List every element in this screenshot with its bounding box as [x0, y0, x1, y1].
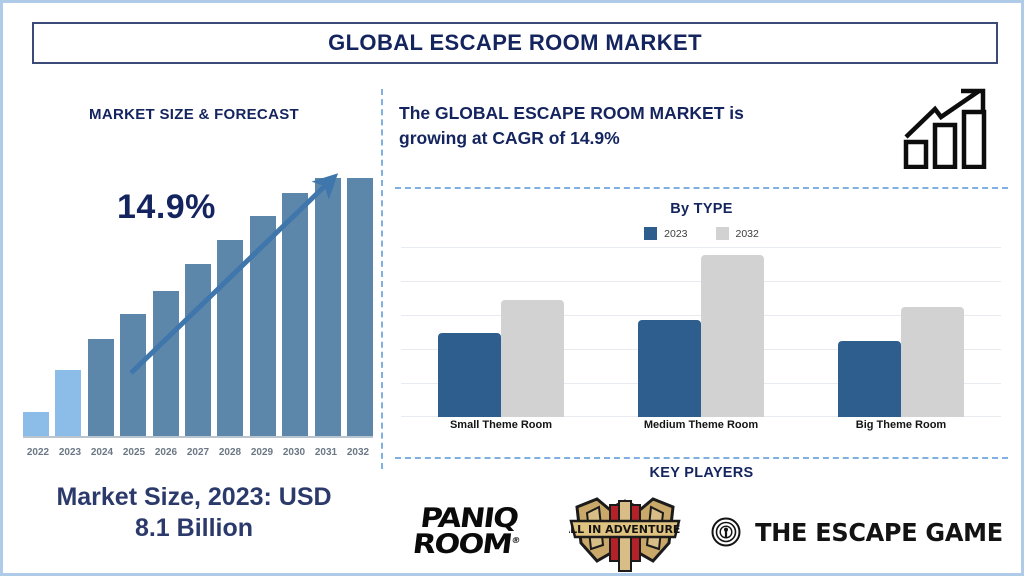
market-size-value: Market Size, 2023: USD 8.1 Billion — [9, 482, 379, 543]
forecast-bar-col — [88, 178, 114, 436]
market-size-line-2: 8.1 Billion — [9, 513, 379, 544]
bar-group-medium-theme-room — [619, 247, 784, 417]
forecast-bar-2028 — [217, 240, 243, 436]
cagr-statement-line-2: growing at CAGR of 14.9% — [399, 126, 869, 151]
market-size-line-1: Market Size, 2023: USD — [9, 482, 379, 513]
forecast-bar-col — [347, 178, 373, 436]
bar-medium-2032 — [701, 255, 764, 417]
market-size-forecast-heading: MARKET SIZE & FORECAST — [9, 106, 379, 123]
forecast-bar-2022 — [23, 412, 49, 436]
legend-swatch-2023 — [644, 227, 657, 240]
forecast-bar-2032 — [347, 178, 373, 436]
infographic-page: GLOBAL ESCAPE ROOM MARKET MARKET SIZE & … — [0, 0, 1024, 576]
logo-the-escape-game: THE ESCAPE GAME — [711, 517, 1008, 547]
forecast-bar-2027 — [185, 264, 211, 436]
forecast-x-axis-labels: 2022 2023 2024 2025 2026 2027 2028 2029 … — [23, 447, 373, 458]
divider-top — [395, 187, 1008, 189]
x-label-2026: 2026 — [151, 447, 181, 458]
bar-big-2023 — [838, 341, 901, 417]
forecast-bar-col — [315, 178, 341, 436]
legend-item-2023: 2023 — [644, 227, 687, 240]
all-in-adventures-shield-icon: ALL IN ADVENTURES — [569, 491, 681, 573]
category-label-big-theme-room: Big Theme Room — [819, 419, 984, 431]
x-label-2023: 2023 — [55, 447, 85, 458]
divider-bottom — [395, 457, 1008, 459]
forecast-bar-col — [55, 178, 81, 436]
bar-group-small-theme-room — [419, 247, 584, 417]
forecast-bar-col — [217, 178, 243, 436]
market-size-forecast-panel: MARKET SIZE & FORECAST 2022 2023 2024 — [9, 78, 379, 570]
registered-mark-icon: ® — [511, 536, 519, 545]
legend-swatch-2032 — [716, 227, 729, 240]
x-label-2028: 2028 — [215, 447, 245, 458]
cagr-statement-line-1: The GLOBAL ESCAPE ROOM MARKET is — [399, 101, 869, 126]
bar-big-2032 — [901, 307, 964, 417]
forecast-bar-col — [250, 178, 276, 436]
legend-label-2032: 2032 — [736, 228, 759, 240]
bar-chart-growth-icon — [903, 87, 1011, 169]
page-title-box: GLOBAL ESCAPE ROOM MARKET — [32, 22, 998, 64]
forecast-bar-col — [23, 178, 49, 436]
forecast-bar-2026 — [153, 291, 179, 436]
x-label-2030: 2030 — [279, 447, 309, 458]
forecast-bar-2029 — [250, 216, 276, 436]
all-in-adventures-banner-text: ALL IN ADVENTURES — [569, 523, 681, 536]
x-label-2025: 2025 — [119, 447, 149, 458]
forecast-bar-2031 — [315, 178, 341, 436]
x-label-2032: 2032 — [343, 447, 373, 458]
x-label-2022: 2022 — [23, 447, 53, 458]
x-label-2024: 2024 — [87, 447, 117, 458]
forecast-axis-line — [23, 436, 373, 438]
key-players-logos: PANIQ ROOM® — [395, 489, 1008, 575]
forecast-bar-2023 — [55, 370, 81, 436]
paniq-room-line-2: ROOM® — [411, 532, 520, 558]
page-title: GLOBAL ESCAPE ROOM MARKET — [328, 30, 702, 56]
vertical-divider — [381, 89, 383, 469]
by-type-chart: Small Theme Room Medium Theme Room Big T… — [401, 247, 1001, 433]
logo-all-in-adventures: ALL IN ADVENTURES — [569, 491, 681, 573]
by-type-legend: 2023 2032 — [395, 227, 1008, 240]
category-label-small-theme-room: Small Theme Room — [419, 419, 584, 431]
category-label-medium-theme-room: Medium Theme Room — [619, 419, 784, 431]
by-type-bar-groups — [401, 247, 1001, 417]
forecast-bar-2024 — [88, 339, 114, 436]
paniq-room-line-2-text: ROOM — [411, 529, 513, 560]
right-panel: The GLOBAL ESCAPE ROOM MARKET is growing… — [395, 83, 1020, 573]
bar-group-big-theme-room — [819, 247, 984, 417]
forecast-bar-2025 — [120, 314, 146, 436]
key-players-title: KEY PLAYERS — [395, 465, 1008, 481]
legend-label-2023: 2023 — [664, 228, 687, 240]
cagr-statement: The GLOBAL ESCAPE ROOM MARKET is growing… — [399, 101, 869, 151]
logo-paniq-room: PANIQ ROOM® — [391, 497, 544, 567]
bar-small-2023 — [438, 333, 501, 417]
x-label-2027: 2027 — [183, 447, 213, 458]
cagr-callout: 14.9% — [117, 188, 216, 227]
x-label-2029: 2029 — [247, 447, 277, 458]
by-type-category-labels: Small Theme Room Medium Theme Room Big T… — [401, 419, 1001, 431]
forecast-bar-col — [282, 178, 308, 436]
bar-small-2032 — [501, 300, 564, 417]
forecast-bar-2030 — [282, 193, 308, 436]
by-type-title: By TYPE — [395, 201, 1008, 217]
the-escape-game-label: THE ESCAPE GAME — [755, 518, 1003, 547]
x-label-2031: 2031 — [311, 447, 341, 458]
legend-item-2032: 2032 — [716, 227, 759, 240]
bar-medium-2023 — [638, 320, 701, 417]
lock-circle-icon — [711, 517, 741, 547]
